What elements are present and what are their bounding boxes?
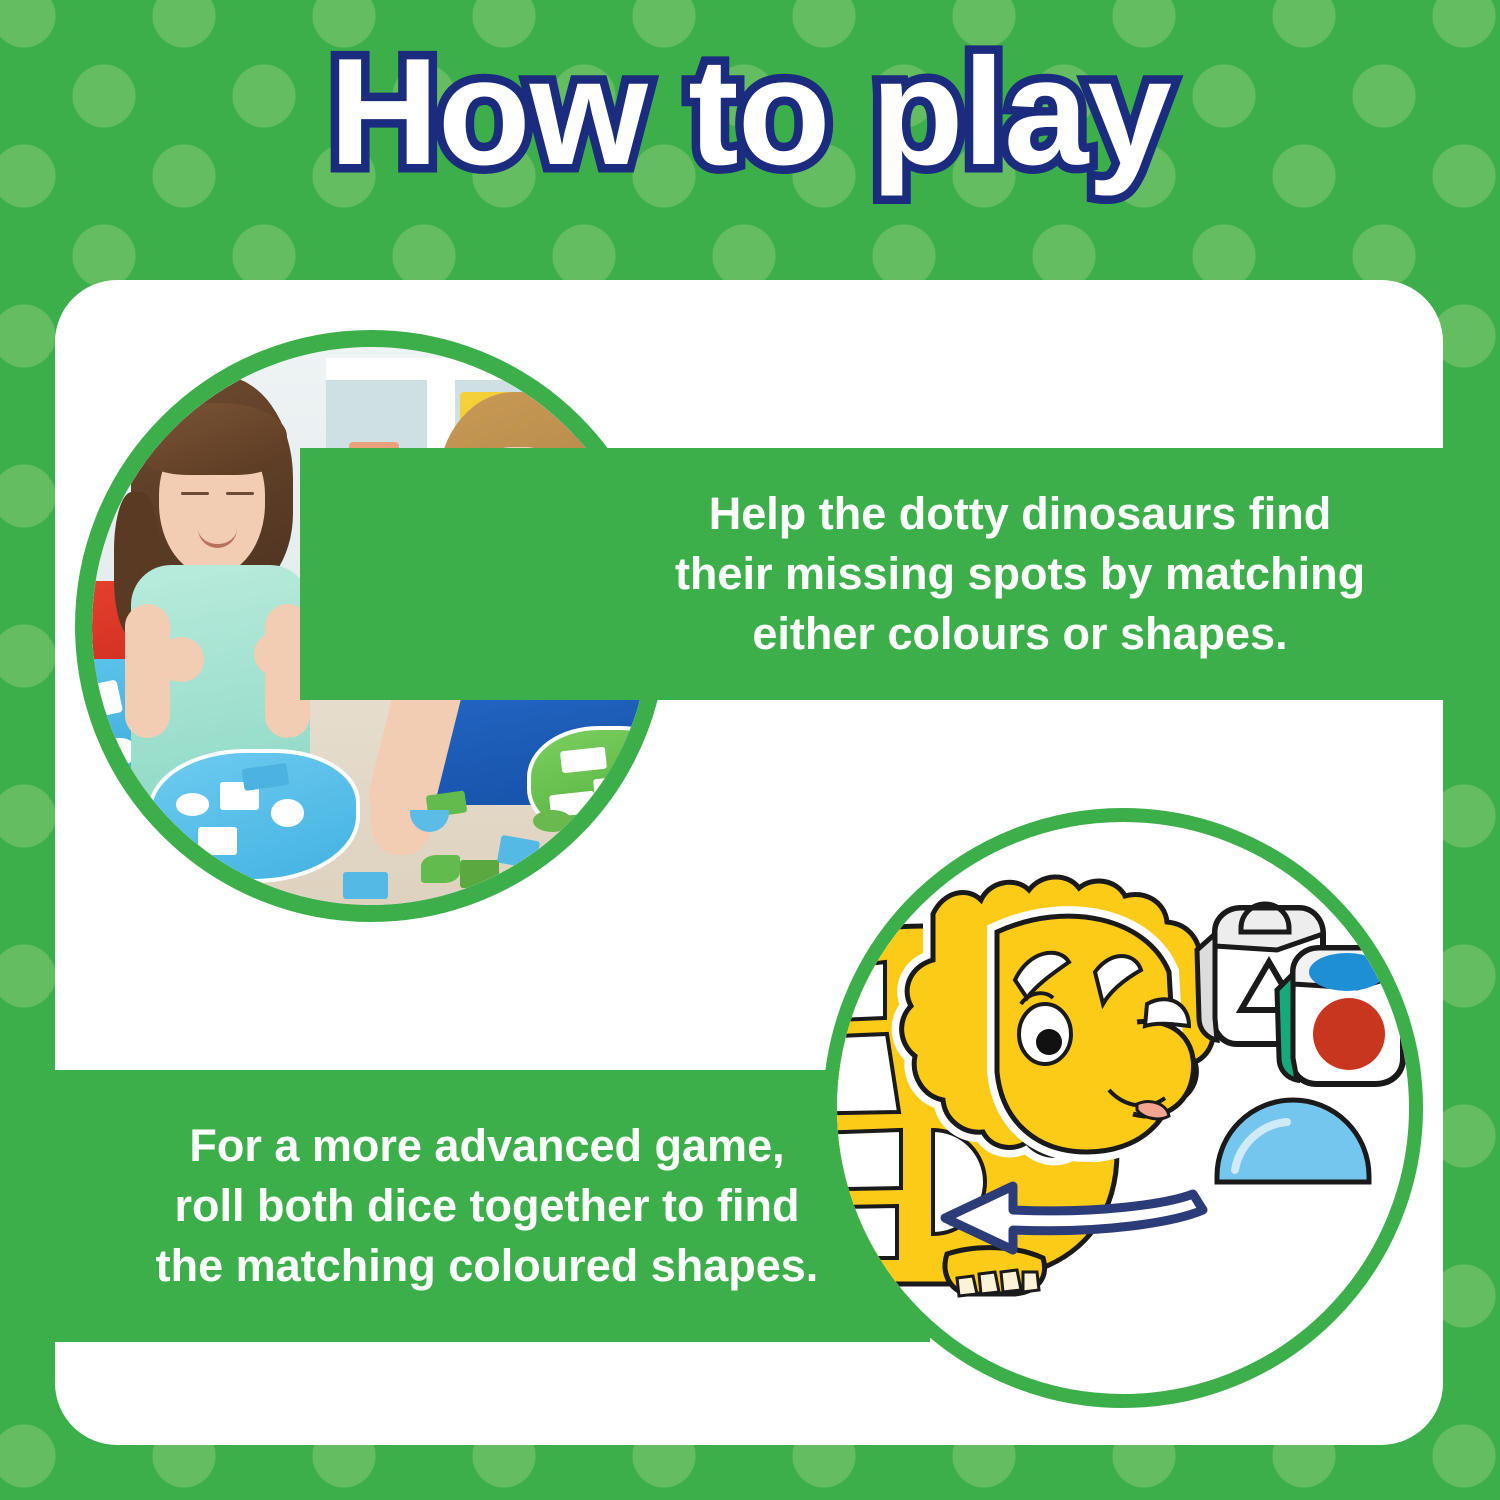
- colour-die-side-green: [1277, 974, 1297, 1080]
- photo-loose-tile-green-3: [460, 860, 499, 888]
- photo-green-spot-2: [593, 774, 640, 801]
- dino-pupil: [1036, 1029, 1062, 1055]
- dino-spot-rect-3: [837, 1130, 901, 1190]
- page-title: How to play: [0, 36, 1500, 188]
- blue-semicircle-piece: [1217, 1100, 1369, 1182]
- how-to-play-page: How to play: [0, 0, 1500, 1500]
- dino-spot-rect-1: [837, 962, 885, 1022]
- photo-girl-eye-left: [181, 492, 209, 495]
- photo-shelf-top: [326, 358, 605, 380]
- photo-green-spot-1: [560, 746, 607, 773]
- dino-spot-rect-4: [837, 1206, 897, 1258]
- photo-girl-eye-right: [226, 492, 254, 495]
- instruction-band-one: Help the dotty dinosaurs find their miss…: [300, 448, 1500, 700]
- photo-blue-spot-4: [198, 827, 237, 855]
- dinosaur-illustration: [823, 808, 1423, 1408]
- photo-loose-tile-green-2: [421, 855, 460, 883]
- instruction-band-two: For a more advanced game, roll both dice…: [0, 1070, 930, 1342]
- colour-die: [1277, 948, 1403, 1084]
- photo-loose-tile-blue-2: [343, 872, 388, 900]
- dino-spot-rect-2: [837, 1034, 899, 1114]
- semicircle-piece: [1217, 1100, 1369, 1182]
- colour-die-red-dot: [1313, 998, 1385, 1070]
- colour-die-blue-dot: [1309, 953, 1385, 991]
- dinosaur-illustration-svg: [837, 822, 1409, 1394]
- photo-girl-hand-left: [159, 637, 204, 682]
- instruction-text-two: For a more advanced game, roll both dice…: [130, 1116, 845, 1296]
- photo-girl-fringe: [137, 403, 288, 476]
- photo-blue-spot-1: [176, 793, 209, 815]
- instruction-text-one: Help the dotty dinosaurs find their miss…: [649, 484, 1391, 664]
- photo-blue-spot-3: [271, 799, 304, 827]
- shape-die-side: [1197, 934, 1217, 1040]
